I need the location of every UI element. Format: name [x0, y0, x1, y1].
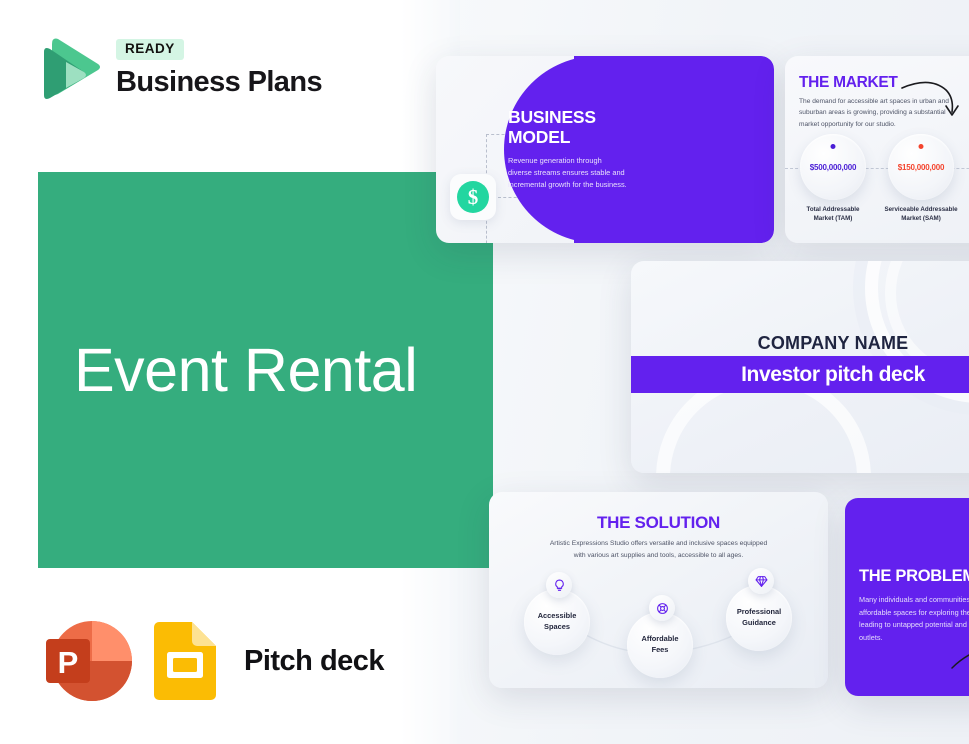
solution-pillar-label-l1: Professional [737, 607, 781, 616]
market-metric-caption-l1: Total Addressable [807, 206, 860, 213]
solution-pillar[interactable]: Accessible Spaces [524, 589, 590, 655]
market-metric-caption-l2: Market (TAM) [814, 215, 853, 222]
diamond-icon [748, 568, 774, 594]
lifebuoy-icon [649, 595, 675, 621]
bm-connector-bot-v [486, 216, 487, 243]
screenshot-stage: READY Business Plans Event Rental $ Drop… [0, 0, 969, 744]
format-row: P Pitch deck [42, 617, 384, 705]
solution-pillar-label: Professional Guidance [737, 607, 781, 628]
play-triangle-logo-icon [38, 36, 102, 102]
solution-pillar-label-l2: Guidance [742, 618, 776, 627]
problem-title: THE PROBLEM [859, 567, 969, 586]
solution-pillar-label-l2: Fees [652, 645, 669, 654]
market-metric-dot-icon [919, 144, 924, 149]
powerpoint-icon: P [42, 617, 135, 705]
solution-pillar[interactable]: Professional Guidance [726, 585, 792, 651]
slide-solution[interactable]: THE SOLUTION Artistic Expressions Studio… [489, 492, 828, 688]
solution-pillar-label-l1: Affordable [642, 634, 679, 643]
slide-market[interactable]: THE MARKET The demand for accessible art… [785, 56, 969, 243]
lightbulb-icon [546, 572, 572, 598]
solution-pillar[interactable]: Affordable Fees [627, 612, 693, 678]
slide-company-title[interactable]: COMPANY NAME Investor pitch deck [631, 261, 969, 473]
market-metric-caption: Total Addressable Market (TAM) [795, 206, 871, 224]
company-subtitle: Investor pitch deck [741, 363, 925, 387]
company-subtitle-bar: Investor pitch deck [631, 356, 969, 393]
svg-text:P: P [58, 645, 79, 680]
bm-purple-panel [574, 56, 774, 243]
brand-logo-block: READY Business Plans [38, 36, 322, 102]
market-metric-dot-icon [831, 144, 836, 149]
market-metric-caption: Serviceable Addressable Market (SAM) [883, 206, 959, 224]
bm-title-line1: BUSINESS [508, 107, 596, 127]
google-slides-icon [154, 622, 216, 700]
market-metric-value: $500,000,000 [810, 163, 857, 172]
brand-text-block: READY Business Plans [116, 39, 322, 99]
market-metric-caption-l2: Market (SAM) [901, 215, 941, 222]
market-metric-caption-l1: Serviceable Addressable [884, 206, 957, 213]
solution-pillar-label-l2: Spaces [544, 622, 570, 631]
market-metric[interactable]: $150,000,000 Serviceable Addressable Mar… [883, 134, 959, 224]
problem-decor-curve-icon [950, 638, 969, 674]
page-title: Event Rental [74, 338, 494, 402]
bm-title-line2: MODEL [508, 127, 570, 147]
solution-pillar-label: Affordable Fees [642, 634, 679, 655]
company-name: COMPANY NAME [631, 333, 969, 354]
bm-description: Revenue generation through diverse strea… [508, 155, 627, 191]
slide-problem[interactable]: THE PROBLEM Many individuals and communi… [845, 498, 969, 696]
solution-description: Artistic Expressions Studio offers versa… [544, 538, 773, 561]
market-metric-disc: $150,000,000 [888, 134, 954, 200]
market-metrics-group: $500,000,000 Total Addressable Market (T… [795, 134, 959, 224]
dollar-sign-icon: $ [457, 181, 489, 213]
bm-title: BUSINESS MODEL [508, 107, 596, 148]
ready-badge: READY [116, 39, 184, 60]
problem-description: Many individuals and communities lack ac… [859, 594, 969, 644]
market-metric[interactable]: $500,000,000 Total Addressable Market (T… [795, 134, 871, 224]
format-label: Pitch deck [244, 645, 384, 678]
solution-pillar-label-l1: Accessible [538, 611, 577, 620]
market-metric-disc: $500,000,000 [800, 134, 866, 200]
market-title: THE MARKET [799, 74, 898, 92]
solution-pillar-label: Accessible Spaces [538, 611, 577, 632]
solution-title: THE SOLUTION [489, 513, 828, 533]
bm-dollar-card: $ [450, 174, 496, 220]
slide-business-model[interactable]: $ Drop-in Fees Session Workshops Commiss… [436, 56, 774, 243]
brand-name: Business Plans [116, 66, 322, 99]
market-description: The demand for accessible art spaces in … [799, 96, 955, 130]
market-metric-value: $150,000,000 [898, 163, 945, 172]
